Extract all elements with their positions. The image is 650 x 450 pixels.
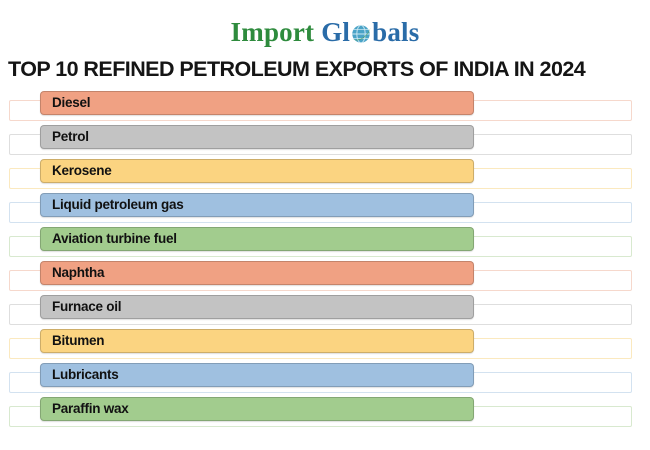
brand-logo: Import Gl bals <box>0 14 650 54</box>
logo-word-gl: Gl <box>321 17 350 47</box>
logo-text: Import Gl bals <box>231 14 420 50</box>
chart-row: Petrol <box>0 122 650 156</box>
bar-label: Petrol <box>41 130 89 144</box>
bar-bitumen[interactable]: Bitumen <box>40 329 474 353</box>
chart-row: Liquid petroleum gas <box>0 190 650 224</box>
page-title: TOP 10 REFINED PETROLEUM EXPORTS OF INDI… <box>8 56 642 82</box>
chart-row: Paraffin wax <box>0 394 650 428</box>
chart-row: Diesel <box>0 88 650 122</box>
bar-label: Paraffin wax <box>41 402 129 416</box>
bar-aviation-turbine-fuel[interactable]: Aviation turbine fuel <box>40 227 474 251</box>
globe-icon <box>350 18 372 40</box>
bar-label: Naphtha <box>41 266 104 280</box>
chart-row: Furnace oil <box>0 292 650 326</box>
bar-label: Furnace oil <box>41 300 121 314</box>
bar-label: Liquid petroleum gas <box>41 198 184 212</box>
bar-label: Diesel <box>41 96 90 110</box>
bar-furnace-oil[interactable]: Furnace oil <box>40 295 474 319</box>
bar-label: Aviation turbine fuel <box>41 232 177 246</box>
bar-kerosene[interactable]: Kerosene <box>40 159 474 183</box>
bar-lubricants[interactable]: Lubricants <box>40 363 474 387</box>
chart-row: Aviation turbine fuel <box>0 224 650 258</box>
chart-row: Lubricants <box>0 360 650 394</box>
chart-row: Naphtha <box>0 258 650 292</box>
bar-chart: Diesel Petrol Kerosene Liquid petroleum … <box>0 88 650 440</box>
bar-label: Lubricants <box>41 368 119 382</box>
bar-diesel[interactable]: Diesel <box>40 91 474 115</box>
logo-word-import: Import <box>231 17 315 47</box>
bar-paraffin-wax[interactable]: Paraffin wax <box>40 397 474 421</box>
chart-row: Kerosene <box>0 156 650 190</box>
bar-naphtha[interactable]: Naphtha <box>40 261 474 285</box>
bar-label: Bitumen <box>41 334 104 348</box>
bar-label: Kerosene <box>41 164 112 178</box>
chart-row: Bitumen <box>0 326 650 360</box>
bar-petrol[interactable]: Petrol <box>40 125 474 149</box>
bar-liquid-petroleum-gas[interactable]: Liquid petroleum gas <box>40 193 474 217</box>
logo-word-bals: bals <box>372 17 419 47</box>
